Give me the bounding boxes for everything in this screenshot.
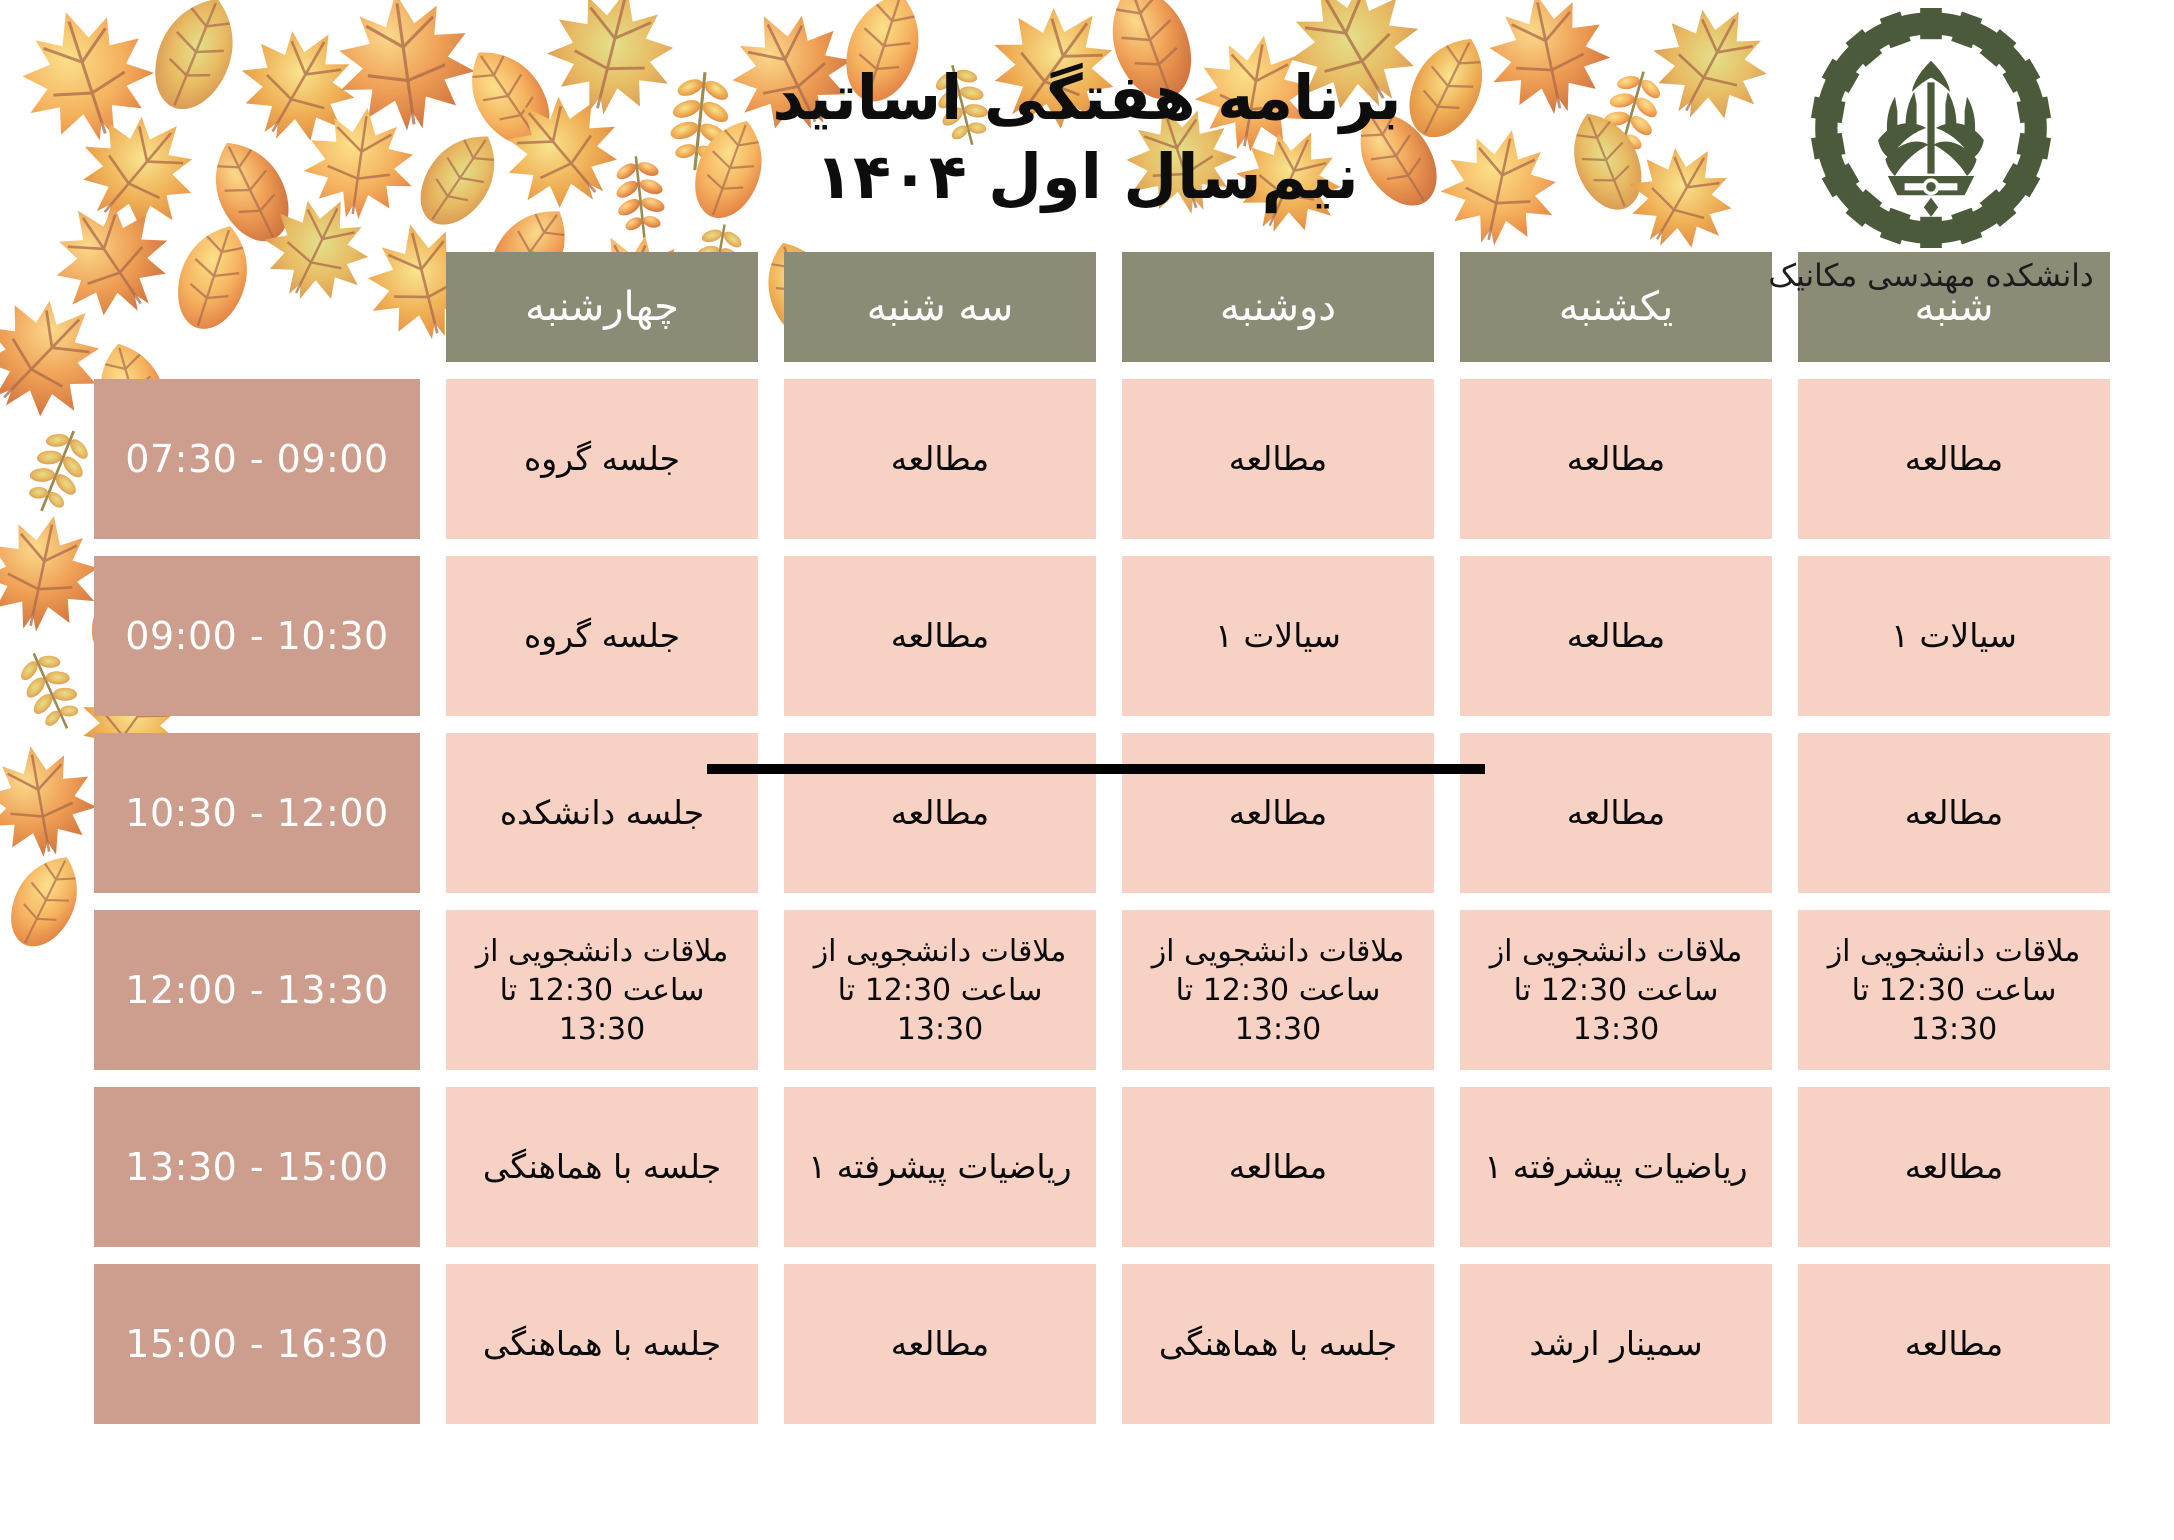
cell-r3-monday: مطالعه bbox=[1122, 733, 1434, 893]
horizontal-rule-annotation bbox=[707, 764, 1485, 774]
cell-r6-saturday: مطالعه bbox=[1798, 1264, 2110, 1424]
time-slot-5: 13:30 - 15:00 bbox=[94, 1087, 420, 1247]
sharif-university-logo-icon bbox=[1811, 8, 2051, 248]
cell-r5-saturday: مطالعه bbox=[1798, 1087, 2110, 1247]
slide-canvas: برنامه هفتگی اساتید نیم‌سال اول ۱۴۰۴ bbox=[0, 0, 2174, 1540]
time-slot-2: 09:00 - 10:30 bbox=[94, 556, 420, 716]
weekly-schedule-table: شنبه یکشنبه دوشنبه سه شنبه چهارشنبه مطال… bbox=[74, 252, 2110, 1432]
cell-r5-monday: مطالعه bbox=[1122, 1087, 1434, 1247]
time-slot-1: 07:30 - 09:00 bbox=[94, 379, 420, 539]
cell-r4-monday: ملاقات دانشجویی از ساعت 12:30 تا 13:30 bbox=[1122, 910, 1434, 1070]
cell-r3-tuesday: مطالعه bbox=[784, 733, 1096, 893]
time-slot-4: 12:00 - 13:30 bbox=[94, 910, 420, 1070]
cell-r1-saturday: مطالعه bbox=[1798, 379, 2110, 539]
cell-r6-wednesday: جلسه با هماهنگی bbox=[446, 1264, 758, 1424]
cell-r5-wednesday: جلسه با هماهنگی bbox=[446, 1087, 758, 1247]
cell-r6-monday: جلسه با هماهنگی bbox=[1122, 1264, 1434, 1424]
cell-r2-saturday: سیالات ۱ bbox=[1798, 556, 2110, 716]
cell-r4-sunday: ملاقات دانشجویی از ساعت 12:30 تا 13:30 bbox=[1460, 910, 1772, 1070]
cell-r6-tuesday: مطالعه bbox=[784, 1264, 1096, 1424]
cell-r3-sunday: مطالعه bbox=[1460, 733, 1772, 893]
university-logo-block: دانشکده مهندسی مکانیک bbox=[1716, 8, 2146, 294]
time-slot-3: 10:30 - 12:00 bbox=[94, 733, 420, 893]
cell-r6-sunday: سمینار ارشد bbox=[1460, 1264, 1772, 1424]
cell-r1-tuesday: مطالعه bbox=[784, 379, 1096, 539]
cell-r1-monday: مطالعه bbox=[1122, 379, 1434, 539]
cell-r4-tuesday: ملاقات دانشجویی از ساعت 12:30 تا 13:30 bbox=[784, 910, 1096, 1070]
cell-r2-monday: سیالات ۱ bbox=[1122, 556, 1434, 716]
faculty-name-label: دانشکده مهندسی مکانیک bbox=[1716, 258, 2146, 294]
cell-r2-wednesday: جلسه گروه bbox=[446, 556, 758, 716]
cell-r3-saturday: مطالعه bbox=[1798, 733, 2110, 893]
header-time-corner bbox=[94, 252, 420, 362]
cell-r1-wednesday: جلسه گروه bbox=[446, 379, 758, 539]
cell-r2-tuesday: مطالعه bbox=[784, 556, 1096, 716]
cell-r5-sunday: ریاضیات پیشرفته ۱ bbox=[1460, 1087, 1772, 1247]
day-header-tuesday: سه شنبه bbox=[784, 252, 1096, 362]
time-slot-6: 15:00 - 16:30 bbox=[94, 1264, 420, 1424]
day-header-wednesday: چهارشنبه bbox=[446, 252, 758, 362]
day-header-monday: دوشنبه bbox=[1122, 252, 1434, 362]
cell-r4-wednesday: ملاقات دانشجویی از ساعت 12:30 تا 13:30 bbox=[446, 910, 758, 1070]
cell-r1-sunday: مطالعه bbox=[1460, 379, 1772, 539]
cell-r3-wednesday: جلسه دانشکده bbox=[446, 733, 758, 893]
cell-r5-tuesday: ریاضیات پیشرفته ۱ bbox=[784, 1087, 1096, 1247]
cell-r2-sunday: مطالعه bbox=[1460, 556, 1772, 716]
cell-r4-saturday: ملاقات دانشجویی از ساعت 12:30 تا 13:30 bbox=[1798, 910, 2110, 1070]
